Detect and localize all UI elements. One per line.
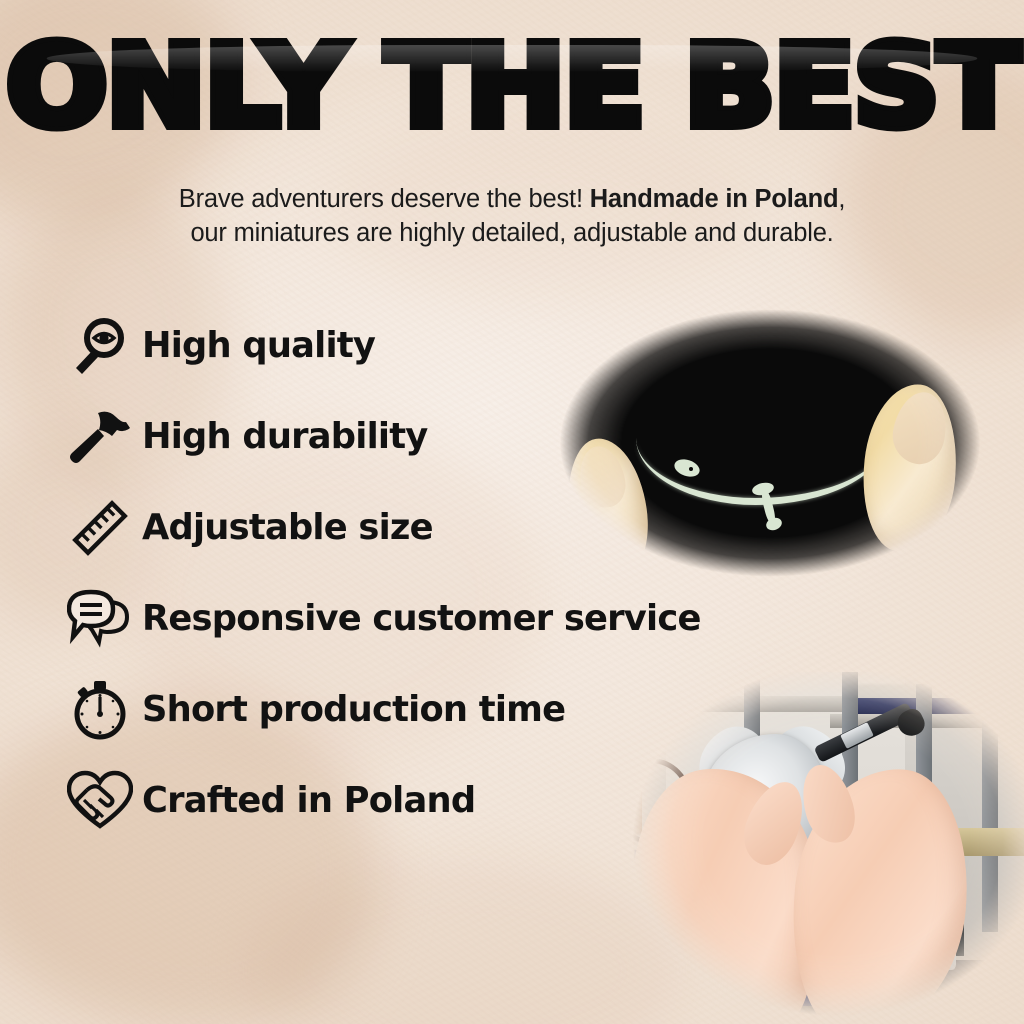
hammer-icon — [58, 402, 142, 472]
shelf-post — [982, 672, 998, 932]
feature-label: Crafted in Poland — [142, 780, 475, 821]
subtitle-emphasis: Handmade in Poland — [590, 185, 839, 213]
speech-bubbles-icon — [58, 584, 142, 654]
resin-miniature-detail — [686, 464, 696, 474]
feature-label: Adjustable size — [142, 507, 433, 548]
subtitle-lead: Brave adventurers deserve the best! — [179, 185, 590, 213]
subtitle-line2: our miniatures are highly detailed, adju… — [190, 219, 833, 247]
promo-poster: ONLY THE BEST Brave adventurers deserve … — [0, 0, 1024, 1024]
stopwatch-icon — [58, 675, 142, 745]
subtitle: Brave adventurers deserve the best! Hand… — [80, 182, 944, 250]
page-title: ONLY THE BEST — [6, 34, 1018, 140]
photo-workshop-painting — [598, 672, 1024, 1024]
feature-label: High durability — [142, 416, 427, 457]
heart-handshake-icon — [58, 766, 142, 836]
photo-flexible-miniature — [516, 278, 1024, 608]
ruler-icon — [58, 493, 142, 563]
magnifier-eye-icon — [58, 311, 142, 381]
subtitle-tail: , — [838, 185, 845, 213]
feature-label: High quality — [142, 325, 375, 366]
feature-label: Short production time — [142, 689, 565, 730]
headline-container: ONLY THE BEST — [0, 34, 1024, 140]
